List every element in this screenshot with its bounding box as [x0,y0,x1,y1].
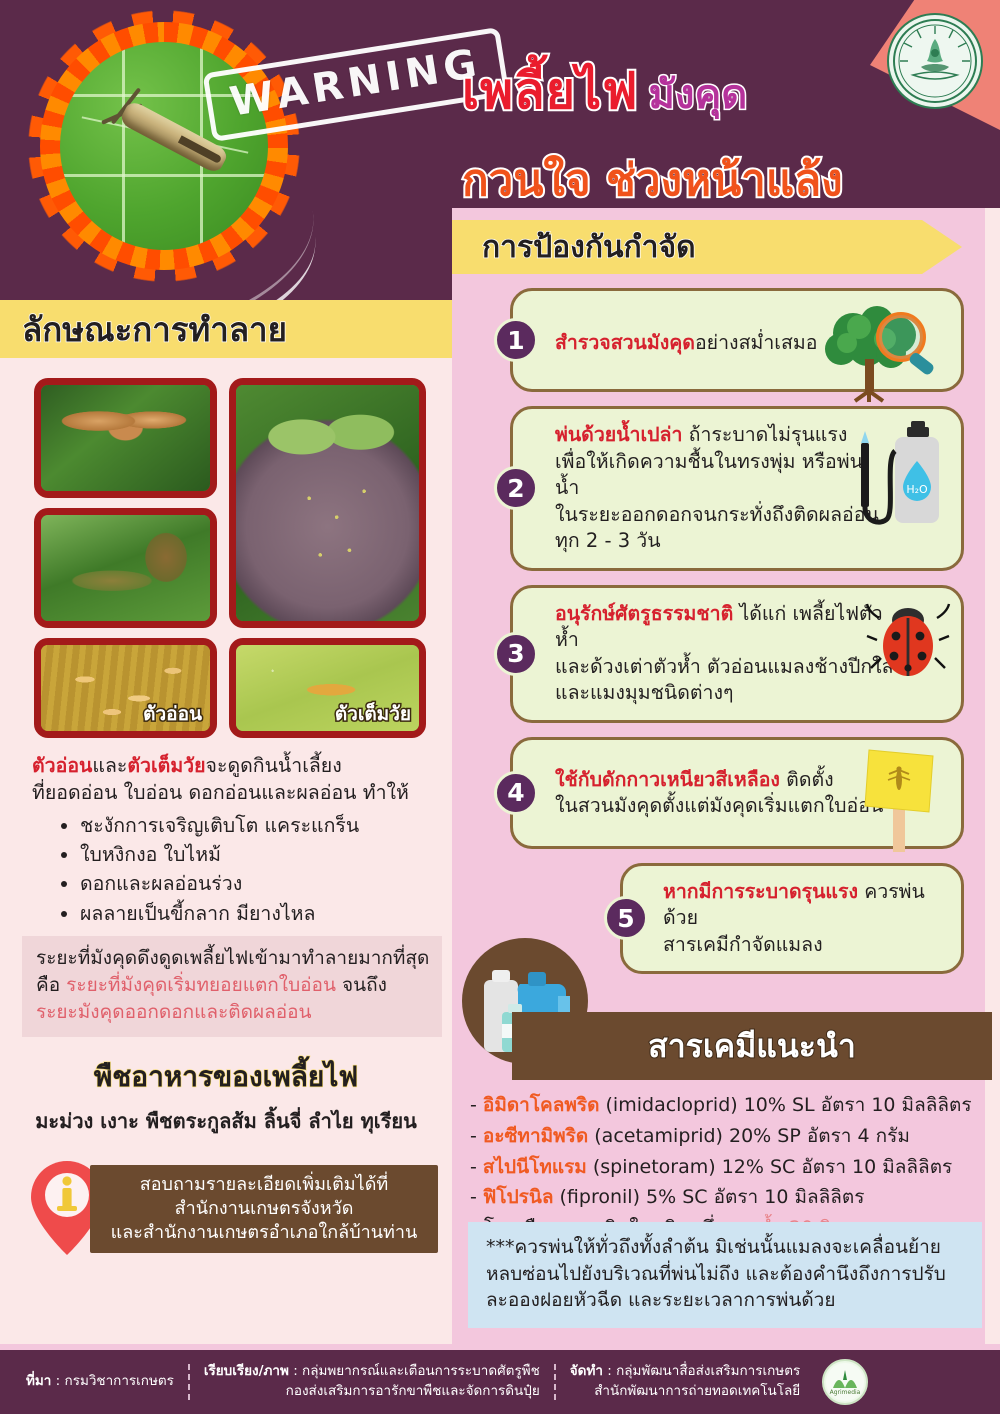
photo-burnt-shoot [34,378,217,498]
footer-producer: จัดทำ : กลุ่มพัฒนาสื่อส่งเสริมการเกษตร ส… [556,1362,814,1401]
prevention-section-banner: การป้องกันกำจัด [452,220,922,274]
chem-detail: (acetamiprid) 20% SP อัตรา 4 กรัม [588,1125,910,1147]
svg-text:Agrimedia: Agrimedia [830,1389,861,1396]
step3-highlight: อนุรักษ์ศัตรูธรรมชาติ [555,602,733,625]
list-item: - สไปนีโทแรม (spinetoram) 12% SC อัตรา 1… [470,1152,990,1183]
sprayer-h2o-icon: H₂O [837,417,947,541]
footer-editor-value2: กองส่งเสริมการอารักขาพืชและจัดการดินปุ๋ย [286,1383,540,1399]
step-1: 1 สำรวจสวนมังคุดอย่างสม่ำเสมอ [494,288,964,392]
damage-banner-label: ลักษณะการทำลาย [22,303,287,356]
footer-credits: ที่มา : กรมวิชาการเกษตร เรียบเรียง/ภาพ :… [0,1350,1000,1414]
step2-line3: ในระยะออกดอกจนกระทั่งถึงติดผลอ่อน [555,503,879,526]
step4-rest: ติดตั้ง [780,768,834,791]
footer-source: ที่มา : กรมวิชาการเกษตร [12,1372,188,1392]
title-crop: มังคุด [649,72,748,118]
step2-line4: ทุก 2 - 3 วัน [555,529,661,552]
critical-stage-note: ระยะที่มังคุดดึงดูดเพลี้ยไฟเข้ามาทำลายมา… [22,936,442,1037]
list-item: ผลลายเป็นขี้กลาก มียางไหล [80,899,432,928]
step5-line2: สารเคมีกำจัดแมลง [663,933,823,956]
list-item: ดอกและผลอ่อนร่วง [80,869,432,898]
infographic-poster: WARNING เพลี้ยไฟ มังคุด กวนใจ ช่วงหน้าแล… [0,0,1000,1414]
chem-dash: - [470,1156,483,1178]
host-plants-list: มะม่วง เงาะ พืชตระกูลส้ม ลิ้นจี่ ลำไย ทุ… [0,1105,452,1137]
footer-editor-label: เรียบเรียง/ภาพ [204,1363,289,1379]
damage-intro-line2: ที่ยอดอ่อน ใบอ่อน ดอกอ่อนและผลอ่อน ทำให้ [32,781,409,804]
step-3: 3 อนุรักษ์ศัตรูธรรมชาติ ได้แก่ เพลี้ยไฟต… [494,585,964,723]
list-item: - อิมิดาโคลพริด (imidacloprid) 10% SL อั… [470,1090,990,1121]
photo-scarred-fruit [229,378,426,628]
photo-caption-adult: ตัวเต็มวัย [335,699,411,729]
chem-detail: (spinetoram) 12% SC อัตรา 10 มิลลิลิตร [587,1156,952,1178]
damage-description: ตัวอ่อนและตัวเต็มวัยจะดูดกินน้ำเลี้ยง ที… [32,753,432,928]
stage-line2-highlight: ระยะที่มังคุดเริ่มทยอยแตกใบอ่อน [66,974,336,996]
step3-line2: และด้วงเต่าตัวห้ำ ตัวอ่อนแมลงช้างปีกใส [555,655,894,678]
list-item: ชะงักการเจริญเติบโต แคระแกร็น [80,811,432,840]
step-number: 5 [604,896,648,940]
contact-info-box: สอบถามรายละเอียดเพิ่มเติมได้ที่ สำนักงาน… [90,1165,438,1253]
step4-line2: ในสวนมังคุดตั้งแต่มังคุดเริ่มแตกใบอ่อน [555,794,883,817]
stage-line2-suffix: จนถึง [336,974,387,996]
photo-adult-thrips: ตัวเต็มวัย [229,638,426,738]
title-subline: กวนใจ ช่วงหน้าแล้ง [462,155,843,206]
step3-line3: และแมงมุมชนิดต่างๆ [555,681,733,704]
step-number: 2 [494,466,538,510]
svg-text:H₂O: H₂O [906,483,928,496]
warn-line-2: หลบซ่อนไปยังบริเวณที่พ่นไม่ถึง และต้องคำ… [486,1261,968,1288]
contact-line-1: สอบถามรายละเอียดเพิ่มเติมได้ที่ [140,1173,389,1197]
left-column: ลักษณะการทำลาย ตัวอ่อน [0,300,452,1350]
step-number: 1 [494,318,538,362]
chem-dash: - [470,1186,483,1208]
chem-name: อิมิดาโคลพริด [483,1094,600,1116]
step2-rest: ถ้าระบาดไม่รุนแรง [682,423,847,446]
footer-producer-label: จัดทำ [570,1363,603,1379]
chemical-header-label: สารเคมีแนะนำ [648,1021,856,1072]
step1-highlight: สำรวจสวนมังคุด [555,331,695,354]
damage-term-nymph: ตัวอ่อน [32,754,92,777]
stage-line3: ระยะมังคุดออกดอกและติดผลอ่อน [36,1001,312,1023]
contact-line-2: สำนักงานเกษตรจังหวัด [175,1197,354,1221]
step5-highlight: หากมีการระบาดรุนแรง [663,880,858,903]
list-item: - อะซีทามิพริด (acetamiprid) 20% SP อัตร… [470,1121,990,1152]
chem-dash: - [470,1125,483,1147]
title-pest: เพลี้ยไฟ [462,62,639,120]
chem-detail: (fipronil) 5% SC อัตรา 10 มิลลิลิตร [553,1186,864,1208]
chem-name: ฟิโปรนิล [483,1186,554,1208]
spray-warning-note: ***ควรพ่นให้ทั่วถึงทั้งลำต้น มิเช่นนั้นแ… [468,1222,982,1328]
tree-magnifier-icon [797,299,947,407]
step2-line2: เพื่อให้เกิดความชื้นในทรงพุ่ม หรือพ่นน้ำ [555,450,863,500]
photo-nymphs: ตัวอ่อน [34,638,217,738]
ladybug-icon [865,600,951,686]
warn-line-1: ***ควรพ่นให้ทั่วถึงทั้งลำต้น มิเช่นนั้นแ… [486,1234,968,1261]
stage-line1: ระยะที่มังคุดดึงดูดเพลี้ยไฟเข้ามาทำลายมา… [36,947,429,969]
step-5: 5 หากมีการระบาดรุนแรง ควรพ่นด้วย สารเคมี… [604,863,964,975]
list-item: ใบหงิกงอ ใบไหม้ [80,840,432,869]
step2-highlight: พ่นด้วยน้ำเปล่า [555,423,682,446]
step4-highlight: ใช้กับดักกาวเหนียวสีเหลือง [555,768,780,791]
chem-detail: (imidacloprid) 10% SL อัตรา 10 มิลลิลิตร [599,1094,971,1116]
photo-caption-nymph: ตัวอ่อน [143,699,202,729]
footer-source-value: : กรมวิชาการเกษตร [51,1373,174,1389]
step-4: 4 ใช้กับดักกาวเหนียวสีเหลือง ติดตั้ง ในส… [494,737,964,849]
photo-curled-leaf [34,508,217,628]
footer-editor: เรียบเรียง/ภาพ : กลุ่มพยากรณ์และเตือนการ… [190,1362,554,1401]
damage-section-banner: ลักษณะการทำลาย [0,300,452,358]
contact-info-block: สอบถามรายละเอียดเพิ่มเติมได้ที่ สำนักงาน… [28,1159,438,1265]
footer-source-label: ที่มา [26,1373,51,1389]
damage-intro-tail: จะดูดกินน้ำเลี้ยง [206,754,342,777]
stage-line2-prefix: คือ [36,974,66,996]
contact-line-3: และสำนักงานเกษตรอำเภอใกล้บ้านท่าน [111,1221,418,1245]
chemical-list: - อิมิดาโคลพริด (imidacloprid) 10% SL อั… [470,1090,990,1244]
page-title: เพลี้ยไฟ มังคุด กวนใจ ช่วงหน้าแล้ง [462,52,982,215]
yellow-sticky-trap-icon [855,746,945,860]
agrimedia-logo-icon: Agrimedia [822,1359,868,1405]
chem-name: อะซีทามิพริด [483,1125,588,1147]
chem-dash: - [470,1094,483,1116]
footer-producer-value2: สำนักพัฒนาการถ่ายทอดเทคโนโลยี [594,1383,800,1399]
chem-name: สไปนีโทแรม [483,1156,587,1178]
list-item: - ฟิโปรนิล (fipronil) 5% SC อัตรา 10 มิล… [470,1182,990,1213]
step-number: 3 [494,632,538,676]
hero-thrips-photo: WARNING [8,8,308,308]
chemical-section-header: สารเคมีแนะนำ [512,1012,992,1080]
damage-term-adult: ตัวเต็มวัย [127,754,205,777]
warn-line-3: ละอองฝอยหัวฉีด และระยะเวลาการพ่นด้วย [486,1287,968,1314]
step-number: 4 [494,771,538,815]
footer-producer-value: : กลุ่มพัฒนาสื่อส่งเสริมการเกษตร [603,1363,800,1379]
damage-conj: และ [92,754,127,777]
step-2: 2 พ่นด้วยน้ำเปล่า ถ้าระบาดไม่รุนแรง เพื่… [494,406,964,571]
host-plants-title: พืชอาหารของเพลี้ยไฟ [0,1055,452,1099]
footer-editor-value: : กลุ่มพยากรณ์และเตือนการระบาดศัตรูพืช [289,1363,540,1379]
prevention-banner-label: การป้องกันกำจัด [482,224,696,271]
damage-symptom-list: ชะงักการเจริญเติบโต แคระแกร็น ใบหงิกงอ ใ… [58,811,432,928]
